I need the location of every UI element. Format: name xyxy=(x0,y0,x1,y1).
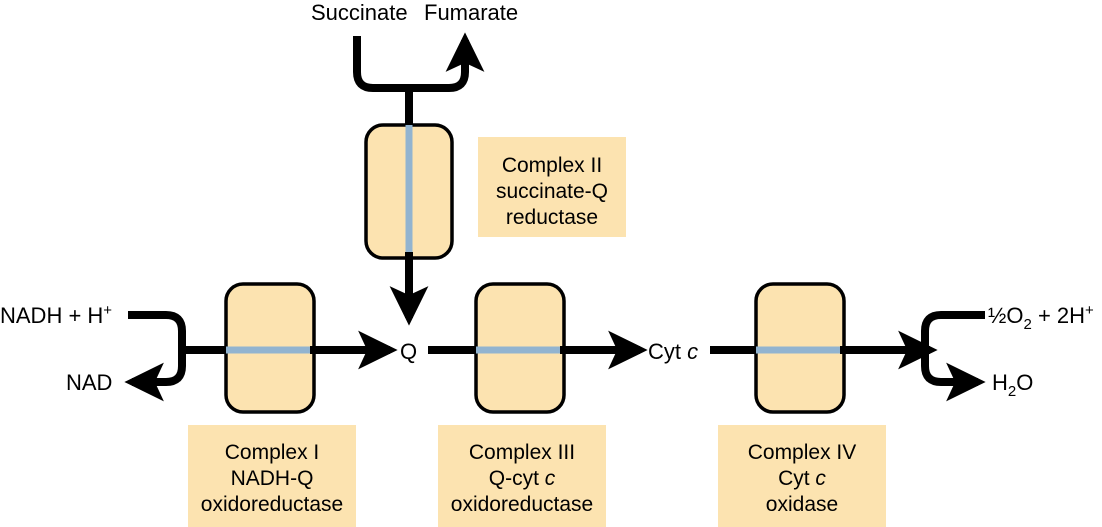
complex-3-body xyxy=(476,284,564,412)
complex-2-legend-line3: reductase xyxy=(506,206,598,229)
succinate-fumarate-fork xyxy=(357,36,465,132)
complex-2-legend-line1: Complex II xyxy=(502,154,602,177)
complex-2-legend-line2: succinate-Q xyxy=(496,180,608,203)
etc-svg-canvas: Succinate Fumarate Complex II succinate-… xyxy=(0,0,1102,527)
succinate-fumarate-fork-path xyxy=(357,36,465,88)
oxygen-water-fork-path xyxy=(925,315,985,382)
nadh-label: NADH + H+ xyxy=(0,302,112,328)
complex-3-legend-line2: Q-cyt c xyxy=(489,467,556,490)
complex-3-legend-line1: Complex III xyxy=(469,441,575,464)
complex-2-legend: Complex II succinate-Q reductase xyxy=(478,137,626,237)
complex-3-legend: Complex III Q-cyt c oxidoreductase xyxy=(438,425,606,527)
complex-1-legend: Complex I NADH-Q oxidoreductase xyxy=(188,425,356,527)
complex-4-legend-line2: Cyt c xyxy=(778,467,826,490)
complex-2-body xyxy=(366,125,452,258)
complex-1-legend-line1: Complex I xyxy=(225,441,320,464)
nadh-nad-fork-path xyxy=(128,315,182,382)
complex-4-legend-line1: Complex IV xyxy=(748,441,857,464)
complex-1-legend-line2: NADH-Q xyxy=(231,467,314,490)
electron-transport-chain-diagram: Succinate Fumarate Complex II succinate-… xyxy=(0,0,1102,527)
fumarate-label: Fumarate xyxy=(424,0,518,25)
complex-1-body xyxy=(226,284,314,412)
oxygen-label: ½O2 + 2H+ xyxy=(988,302,1094,333)
complex-4-legend-line3: oxidase xyxy=(766,493,838,516)
oxygen-water-fork xyxy=(925,315,985,382)
nad-label: NAD xyxy=(66,370,112,395)
water-label: H2O xyxy=(992,370,1033,400)
complex-3-legend-line3: oxidoreductase xyxy=(451,493,593,516)
complex-4-body xyxy=(756,284,844,412)
nadh-nad-fork xyxy=(128,315,182,382)
cyt-c-label: Cyt c xyxy=(648,339,698,364)
quinone-label: Q xyxy=(400,339,417,364)
complex-4-legend: Complex IV Cyt c oxidase xyxy=(718,425,886,527)
succinate-label: Succinate xyxy=(311,0,408,25)
complex-1-legend-line3: oxidoreductase xyxy=(201,493,343,516)
